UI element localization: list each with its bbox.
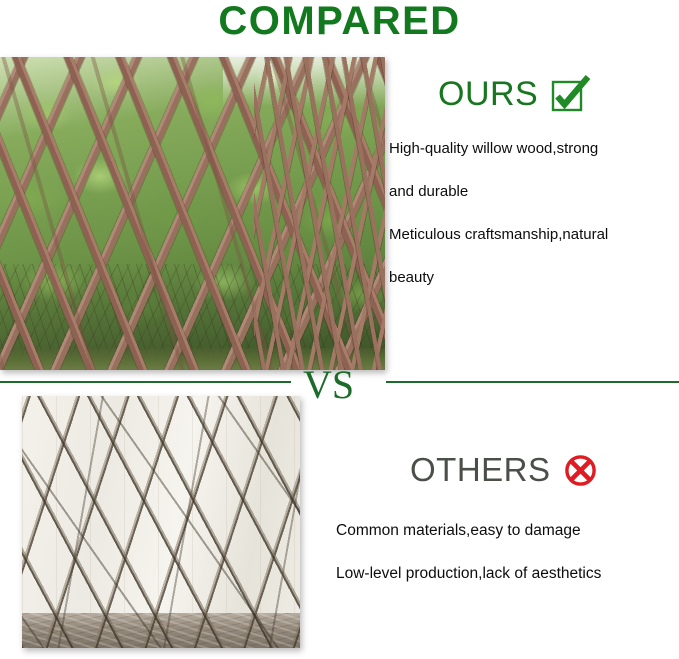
divider-line-right — [386, 381, 679, 383]
ours-heading-group: OURS — [438, 76, 585, 112]
page-title: COMPARED — [0, 0, 679, 44]
others-line-2: Low-level production,lack of aesthetics — [336, 552, 679, 595]
ours-heading: OURS — [438, 76, 538, 112]
others-heading-group: OTHERS — [410, 452, 597, 487]
ours-description: High-quality willow wood,strong and dura… — [389, 127, 679, 299]
ours-photo-content — [0, 57, 385, 370]
ours-product-photo — [0, 57, 385, 370]
willow-lattice-perspective — [254, 57, 385, 370]
circle-x-icon — [564, 454, 597, 487]
others-product-photo — [22, 396, 300, 648]
vs-label: VS — [303, 363, 354, 407]
ours-line-1: High-quality willow wood,strong — [389, 127, 679, 170]
check-box-icon — [551, 79, 585, 112]
divider-line-left — [0, 381, 291, 383]
others-line-1: Common materials,easy to damage — [336, 509, 679, 552]
others-heading: OTHERS — [410, 452, 551, 487]
thin-lattice-dark-accent — [22, 396, 300, 648]
ours-line-4: beauty — [389, 256, 679, 299]
others-photo-content — [22, 396, 300, 648]
ours-line-3: Meticulous craftsmanship,natural — [389, 213, 679, 256]
others-description: Common materials,easy to damage Low-leve… — [336, 509, 679, 595]
ours-line-2: and durable — [389, 170, 679, 213]
